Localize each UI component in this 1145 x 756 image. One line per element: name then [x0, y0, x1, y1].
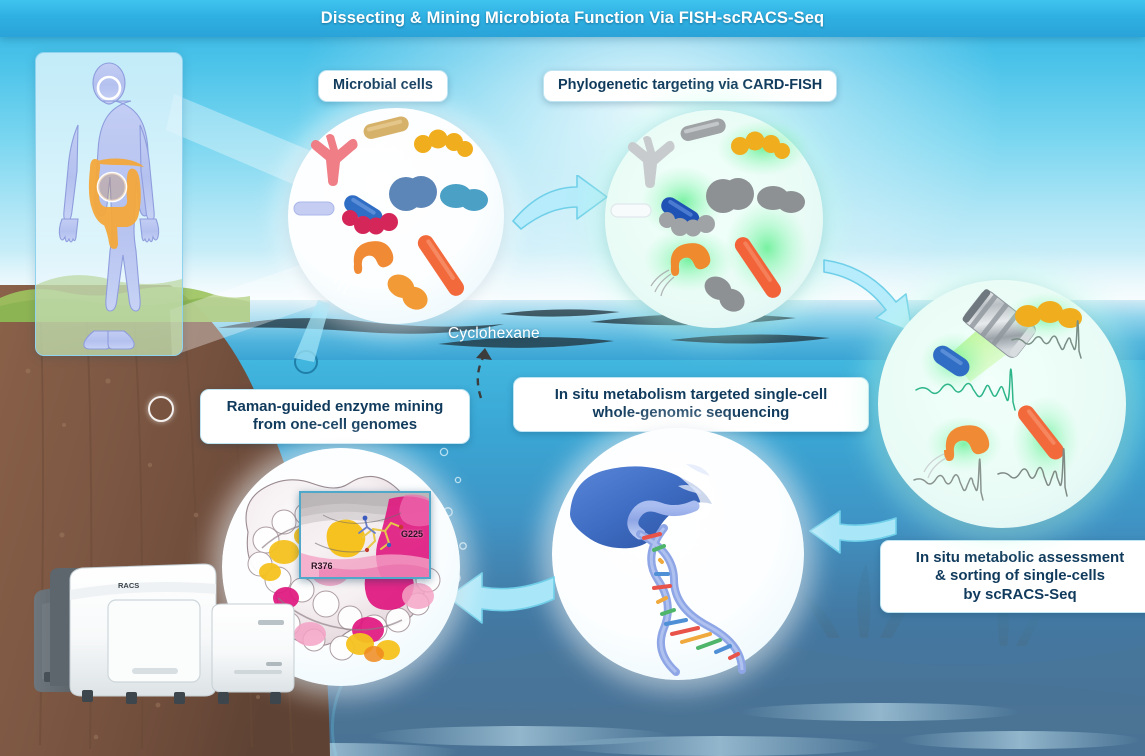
label-sorting-line2: & sorting of single-cells — [895, 567, 1145, 585]
label-raman-line1: Raman-guided enzyme mining — [215, 398, 455, 416]
arrow-dashed-to-surface — [455, 340, 515, 400]
label-sorting-line1: In situ metabolic assessment — [895, 549, 1145, 567]
label-raman-mining: Raman-guided enzyme mining from one-cell… — [200, 389, 470, 444]
label-raman-line2: from one-cell genomes — [215, 416, 455, 434]
residue-label-1: R376 — [311, 561, 333, 571]
disc-single-cell-genome — [552, 428, 804, 680]
soil-sample-marker — [148, 396, 174, 422]
label-single-cell-wgs: In situ metabolism targeted single-cell … — [513, 377, 869, 432]
label-sorting-line3: by scRACS-Seq — [895, 586, 1145, 604]
graphical-abstract: Cyclohexane — [0, 0, 1145, 756]
disc-card-fish — [605, 110, 823, 328]
label-card-fish: Phylogenetic targeting via CARD-FISH — [543, 70, 837, 102]
active-site-inset: R376 G225 — [299, 491, 431, 579]
label-scracs-sorting: In situ metabolic assessment & sorting o… — [880, 540, 1145, 613]
page-title: Dissecting & Mining Microbiota Function … — [0, 0, 1145, 37]
label-wgs-line1: In situ metabolism targeted single-cell — [528, 386, 854, 404]
human-host-panel — [35, 52, 183, 356]
label-wgs-line2: whole-genomic sequencing — [528, 404, 854, 422]
arrow-step1-to-step2 — [505, 175, 615, 245]
racs-seq-instrument: RACS — [22, 556, 312, 726]
arrow-step3-to-step4 — [800, 500, 900, 558]
instrument-brand-label: RACS — [118, 581, 139, 590]
label-microbial-cells: Microbial cells — [318, 70, 448, 102]
residue-label-2: G225 — [401, 529, 423, 539]
title-bar: Dissecting & Mining Microbiota Function … — [0, 0, 1145, 37]
disc-microbial-cells — [288, 108, 504, 324]
disc-raman-sorting — [878, 280, 1126, 528]
